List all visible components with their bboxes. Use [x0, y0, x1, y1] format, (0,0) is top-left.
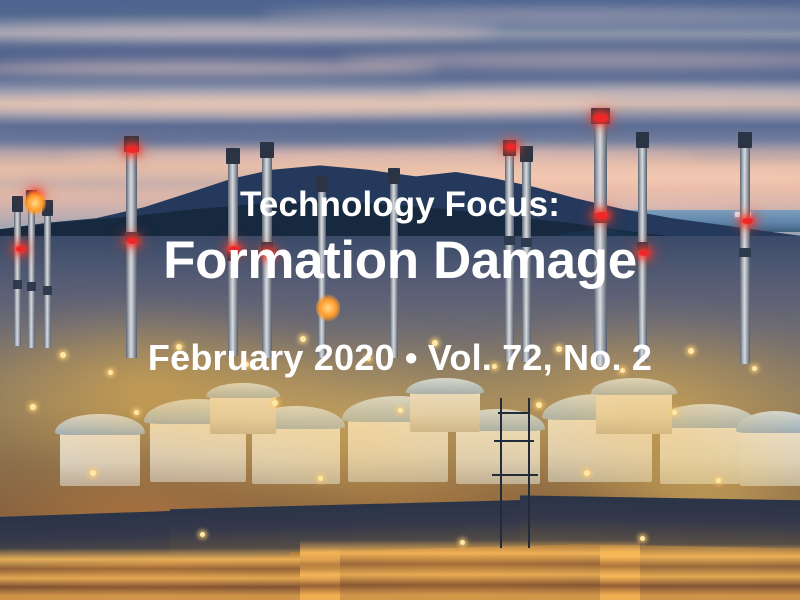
- cloud-band: [260, 8, 800, 22]
- cloud-band: [0, 22, 500, 40]
- transmission-pylon: [500, 398, 502, 548]
- storage-tank: [660, 424, 752, 484]
- refinery-lamp: [556, 346, 562, 352]
- smokestack: [594, 108, 607, 366]
- aviation-beacon-light: [639, 250, 649, 256]
- cloud-band: [0, 60, 440, 75]
- aviation-beacon-light: [127, 238, 137, 244]
- smokestack: [126, 136, 137, 358]
- refinery-lamp: [398, 408, 403, 413]
- refinery-lamp: [620, 368, 625, 373]
- refinery-lamp: [672, 410, 677, 415]
- refinery-lamp: [492, 364, 497, 369]
- refinery-lamp: [536, 402, 542, 408]
- refinery-lamp: [432, 340, 438, 346]
- refinery-lamp: [688, 348, 694, 354]
- aviation-beacon-light: [506, 144, 516, 150]
- refinery-lamp: [272, 400, 278, 406]
- aviation-beacon-light: [595, 212, 608, 219]
- refinery-lamp: [244, 362, 249, 367]
- refinery-lamp: [460, 540, 465, 545]
- refinery-lamp: [584, 470, 590, 476]
- aviation-beacon-light: [263, 250, 273, 256]
- cloud-band: [0, 95, 620, 115]
- storage-tank: [60, 432, 140, 486]
- aviation-beacon-light: [742, 218, 753, 224]
- refinery-lamp: [752, 366, 757, 371]
- smokestack: [522, 146, 531, 362]
- pylon-crossarm: [492, 474, 538, 476]
- flare-flame: [24, 190, 46, 216]
- storage-tank: [740, 430, 800, 486]
- smokestack: [318, 176, 326, 358]
- smokestack: [228, 148, 238, 356]
- storage-tank: [596, 392, 672, 434]
- smokestack: [740, 132, 750, 364]
- smokestack: [390, 168, 398, 358]
- refinery-lamp: [716, 478, 721, 483]
- flare-flame: [316, 294, 340, 322]
- refinery-lamp: [30, 404, 36, 410]
- storage-tank: [252, 426, 340, 484]
- refinery-lamp: [300, 336, 306, 342]
- refinery-lamp: [318, 476, 323, 481]
- smokestack: [44, 200, 51, 348]
- aviation-beacon-light: [594, 114, 608, 122]
- cloud-band: [300, 120, 800, 135]
- cloud-band: [340, 52, 800, 69]
- refinery-lamp: [134, 410, 139, 415]
- refinery-lamp: [200, 532, 205, 537]
- storage-tank: [210, 396, 276, 434]
- lit-facade: [0, 548, 340, 600]
- refinery-lamp: [176, 344, 182, 350]
- storage-tank: [410, 392, 480, 432]
- cloud-band: [420, 88, 800, 104]
- cloud-band: [0, 128, 480, 146]
- magazine-cover: Technology Focus: Formation Damage Febru…: [0, 0, 800, 600]
- aviation-beacon-light: [126, 146, 138, 153]
- refinery-lamp: [60, 352, 66, 358]
- transmission-pylon: [528, 398, 530, 548]
- lit-facade: [600, 544, 800, 600]
- lit-facade: [300, 540, 640, 600]
- pylon-crossarm: [498, 412, 530, 414]
- refinery-lamp: [640, 536, 645, 541]
- smokestack: [14, 196, 21, 346]
- pylon-crossarm: [494, 440, 534, 442]
- aviation-beacon-light: [229, 246, 239, 252]
- refinery-lamp: [90, 470, 96, 476]
- refinery-lamp: [366, 356, 371, 361]
- smokestack: [638, 132, 647, 362]
- aviation-beacon-light: [16, 246, 25, 252]
- refinery-lamp: [108, 370, 113, 375]
- smokestack: [505, 140, 514, 362]
